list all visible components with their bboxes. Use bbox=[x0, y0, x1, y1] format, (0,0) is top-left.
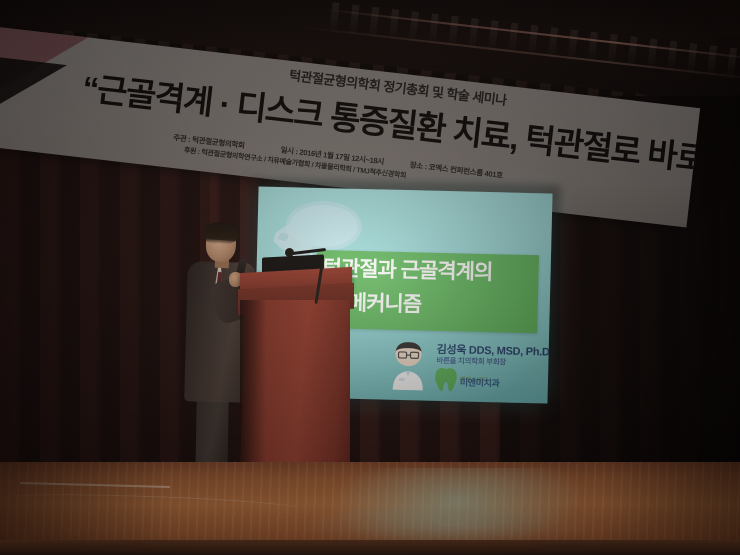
banner-place-label: 장소 : 코엑스 컨퍼런스룸 401호 bbox=[409, 159, 503, 181]
curtain-shadow-left bbox=[0, 150, 210, 480]
podium-side-shadow bbox=[240, 300, 266, 476]
stage-front-edge bbox=[0, 540, 740, 555]
banner-triangle-dark bbox=[0, 56, 67, 123]
stage-photo-scene: 턱관절균형의학회 정기총회 및 학술 세미나 “근골격계 · 디스크 통증질환 … bbox=[0, 0, 740, 555]
